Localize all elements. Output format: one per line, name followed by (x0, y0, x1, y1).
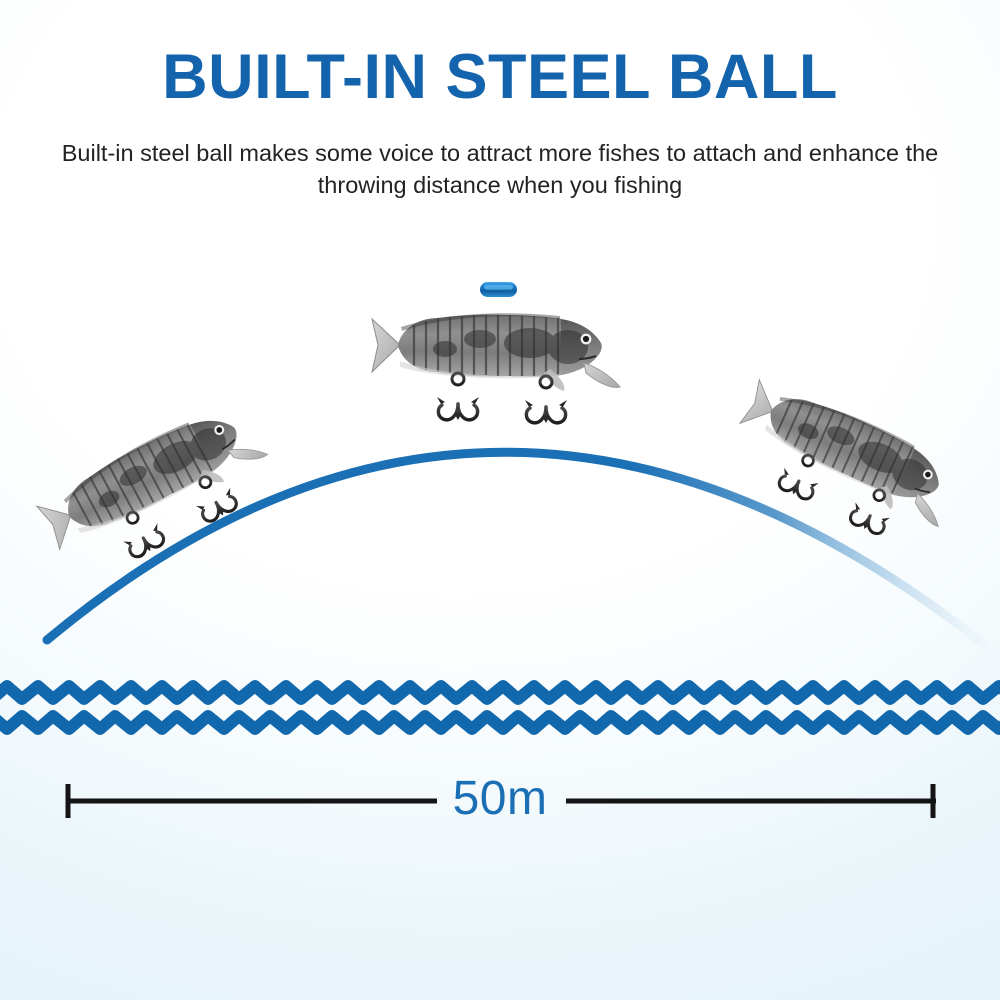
illustration-scene: 50m (0, 0, 1000, 1000)
water-waves (0, 686, 1000, 729)
distance-label-wrap: 50m (0, 775, 1000, 823)
wave-row-1 (0, 686, 1000, 699)
scene-svg (0, 0, 1000, 1000)
distance-label: 50m (437, 775, 564, 823)
wave-row-2 (0, 716, 1000, 729)
lure-descending (721, 375, 965, 556)
infographic-page: BUILT-IN STEEL BALL Built-in steel ball … (0, 0, 1000, 1000)
steel-ball-icon (480, 282, 517, 297)
lure-apex (372, 313, 620, 423)
